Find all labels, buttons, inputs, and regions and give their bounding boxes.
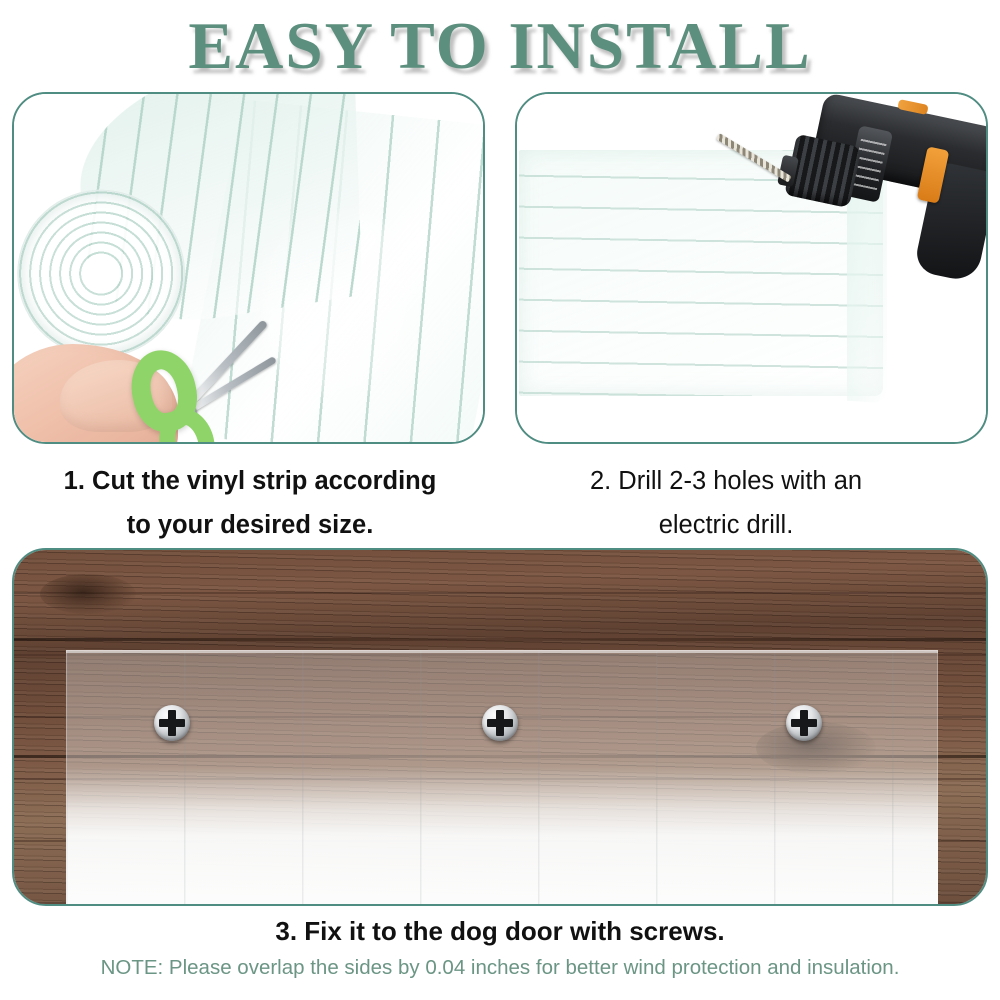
- drill-holes-scene: [517, 94, 986, 442]
- step-2-caption: 2. Drill 2-3 holes with an electric dril…: [488, 450, 964, 548]
- vinyl-strip-panel: [66, 650, 938, 906]
- screw-right: [786, 705, 822, 741]
- note-text: NOTE: Please overlap the sides by 0.04 i…: [0, 949, 1000, 982]
- page-title: EASY TO INSTALL: [188, 13, 811, 80]
- cordless-drill-graphic: [752, 100, 988, 288]
- step-1-caption-line-2: to your desired size.: [12, 504, 488, 548]
- step-2-image-panel: [515, 92, 988, 444]
- step-3-wrapper: [0, 548, 1000, 906]
- screw-left: [154, 705, 190, 741]
- step-2-caption-line-2: electric drill.: [488, 504, 964, 548]
- step-1-image-panel: [12, 92, 485, 444]
- vinyl-roll-cut-scene: [14, 94, 483, 442]
- vinyl-strip-top-edge: [66, 650, 938, 653]
- step-2-caption-line-1: 2. Drill 2-3 holes with an: [488, 460, 964, 504]
- steps-top-row: [0, 92, 1000, 450]
- step-3-image-panel: [12, 548, 988, 906]
- step-1-caption: 1. Cut the vinyl strip according to your…: [12, 450, 488, 548]
- steps-caption-row: 1. Cut the vinyl strip according to your…: [0, 450, 1000, 548]
- page-header: EASY TO INSTALL: [0, 0, 1000, 92]
- step-3-caption: 3. Fix it to the dog door with screws.: [0, 906, 1000, 949]
- screw-center: [482, 705, 518, 741]
- step-1-caption-line-1: 1. Cut the vinyl strip according: [12, 460, 488, 504]
- wood-knot-left: [40, 574, 136, 614]
- wood-plank-seam-top: [14, 638, 986, 641]
